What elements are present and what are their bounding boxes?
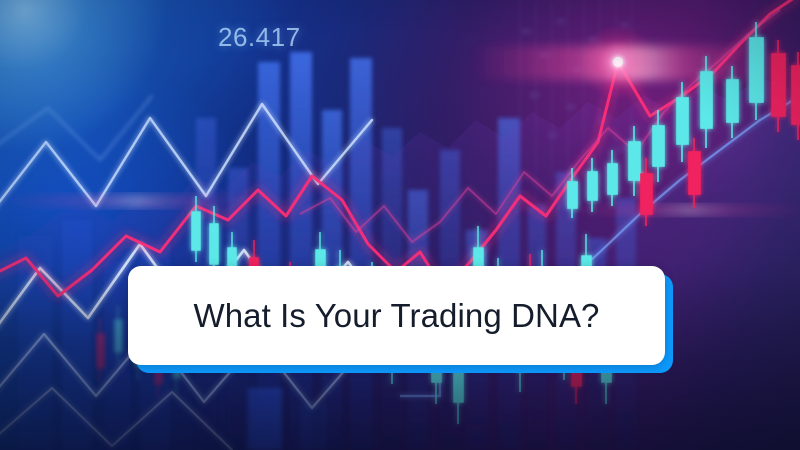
vignette-overlay [0,0,800,450]
title-card-wrapper: What Is Your Trading DNA? [128,266,673,373]
screenshot-root: 26.417 What Is Your Trading DNA? [0,0,800,450]
title-heading: What Is Your Trading DNA? [193,297,599,335]
price-annotation: 26.417 [218,22,301,53]
title-card[interactable]: What Is Your Trading DNA? [128,266,665,365]
